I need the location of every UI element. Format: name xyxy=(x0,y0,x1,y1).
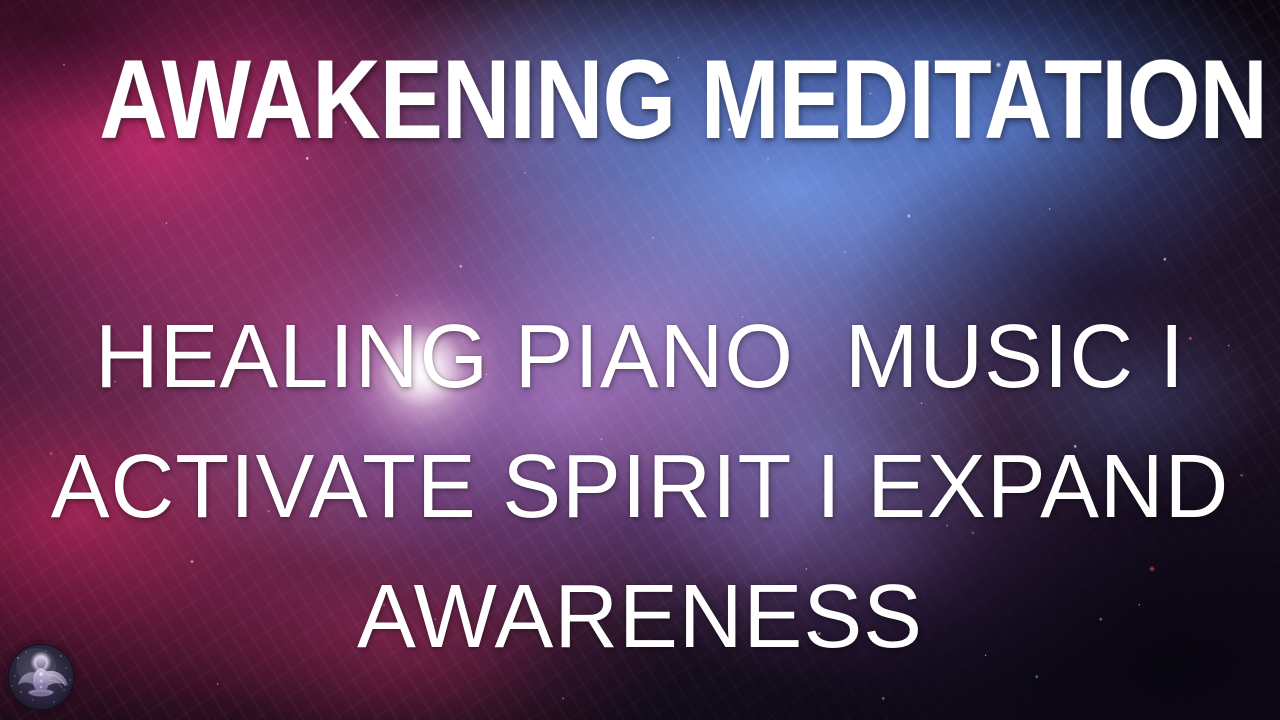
subtitle-block: HEALING PIANO MUSIC I ACTIVATE SPIRIT I … xyxy=(0,292,1280,682)
text-overlay: AWAKENING MEDITATION MUSIC HEALING PIANO… xyxy=(0,0,1280,720)
subtitle-line-3: AWARENESS xyxy=(13,552,1267,682)
subtitle-line-1: HEALING PIANO MUSIC I xyxy=(13,292,1267,422)
youtube-thumbnail: AWAKENING MEDITATION MUSIC HEALING PIANO… xyxy=(0,0,1280,720)
meditating-figure-logo-icon[interactable] xyxy=(6,642,76,712)
subtitle-line-2: ACTIVATE SPIRIT I EXPAND xyxy=(13,422,1267,552)
main-title: AWAKENING MEDITATION MUSIC xyxy=(99,44,1181,156)
